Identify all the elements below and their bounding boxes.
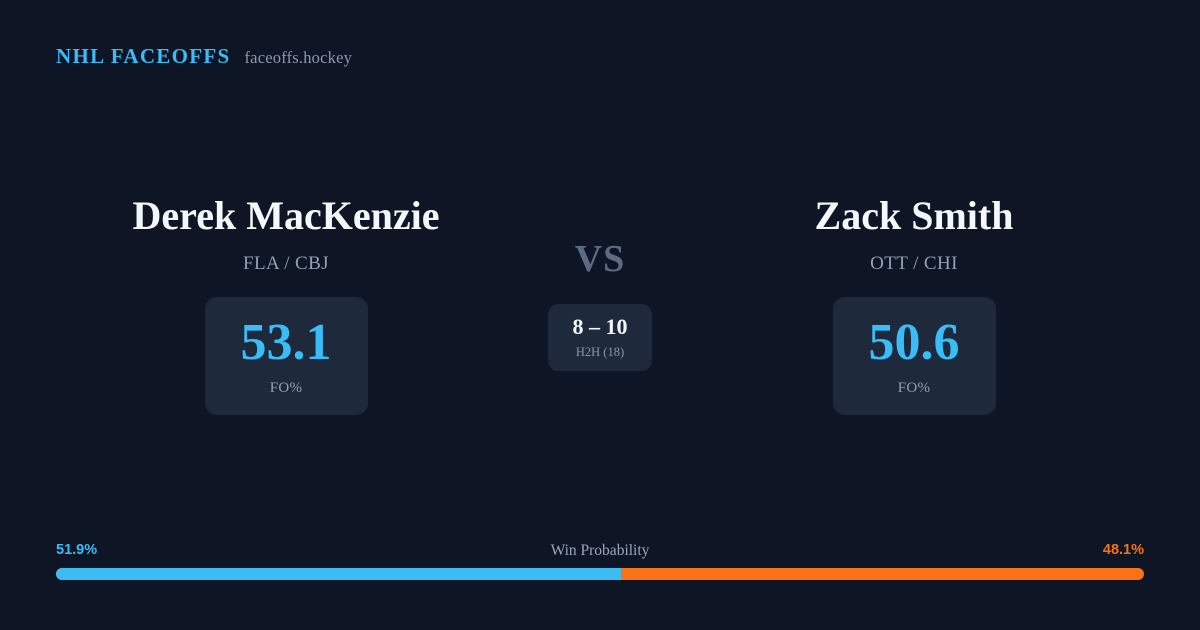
faceoff-label-right: FO% <box>898 381 931 396</box>
win-probability-title: Win Probability <box>551 541 650 560</box>
win-probability-right-value: 48.1% <box>1103 541 1144 560</box>
player-teams-left: FLA / CBJ <box>76 254 496 273</box>
head-to-head-caption: H2H (18) <box>576 346 624 359</box>
versus-label: VS <box>500 240 700 278</box>
faceoff-value-left: 53.1 <box>241 317 332 369</box>
win-probability-left-value: 51.9% <box>56 541 97 560</box>
faceoff-value-right: 50.6 <box>869 317 960 369</box>
player-name-right: Zack Smith <box>704 196 1124 236</box>
win-probability-section: 51.9% Win Probability 48.1% <box>56 541 1144 580</box>
faceoff-label-left: FO% <box>270 381 303 396</box>
win-probability-bar-left-fill <box>56 568 621 580</box>
brand-title: NHL FACEOFFS <box>56 46 230 67</box>
head-to-head-record: 8 – 10 <box>573 316 628 338</box>
player-name-left: Derek MacKenzie <box>76 196 496 236</box>
faceoff-stat-card-right: 50.6 FO% <box>833 297 996 415</box>
scoreboard-canvas: NHL FACEOFFS faceoffs.hockey Derek MacKe… <box>0 0 1200 630</box>
brand-header: NHL FACEOFFS faceoffs.hockey <box>56 46 352 67</box>
player-card-right: Zack Smith OTT / CHI 50.6 FO% <box>704 196 1124 415</box>
faceoff-stat-card-left: 53.1 FO% <box>205 297 368 415</box>
win-probability-labels: 51.9% Win Probability 48.1% <box>56 541 1144 560</box>
player-card-left: Derek MacKenzie FLA / CBJ 53.1 FO% <box>76 196 496 415</box>
brand-domain: faceoffs.hockey <box>244 50 352 67</box>
player-teams-right: OTT / CHI <box>704 254 1124 273</box>
head-to-head-card: 8 – 10 H2H (18) <box>548 304 652 371</box>
win-probability-bar <box>56 568 1144 580</box>
versus-column: VS 8 – 10 H2H (18) <box>500 240 700 371</box>
matchup-section: Derek MacKenzie FLA / CBJ 53.1 FO% VS 8 … <box>0 196 1200 436</box>
